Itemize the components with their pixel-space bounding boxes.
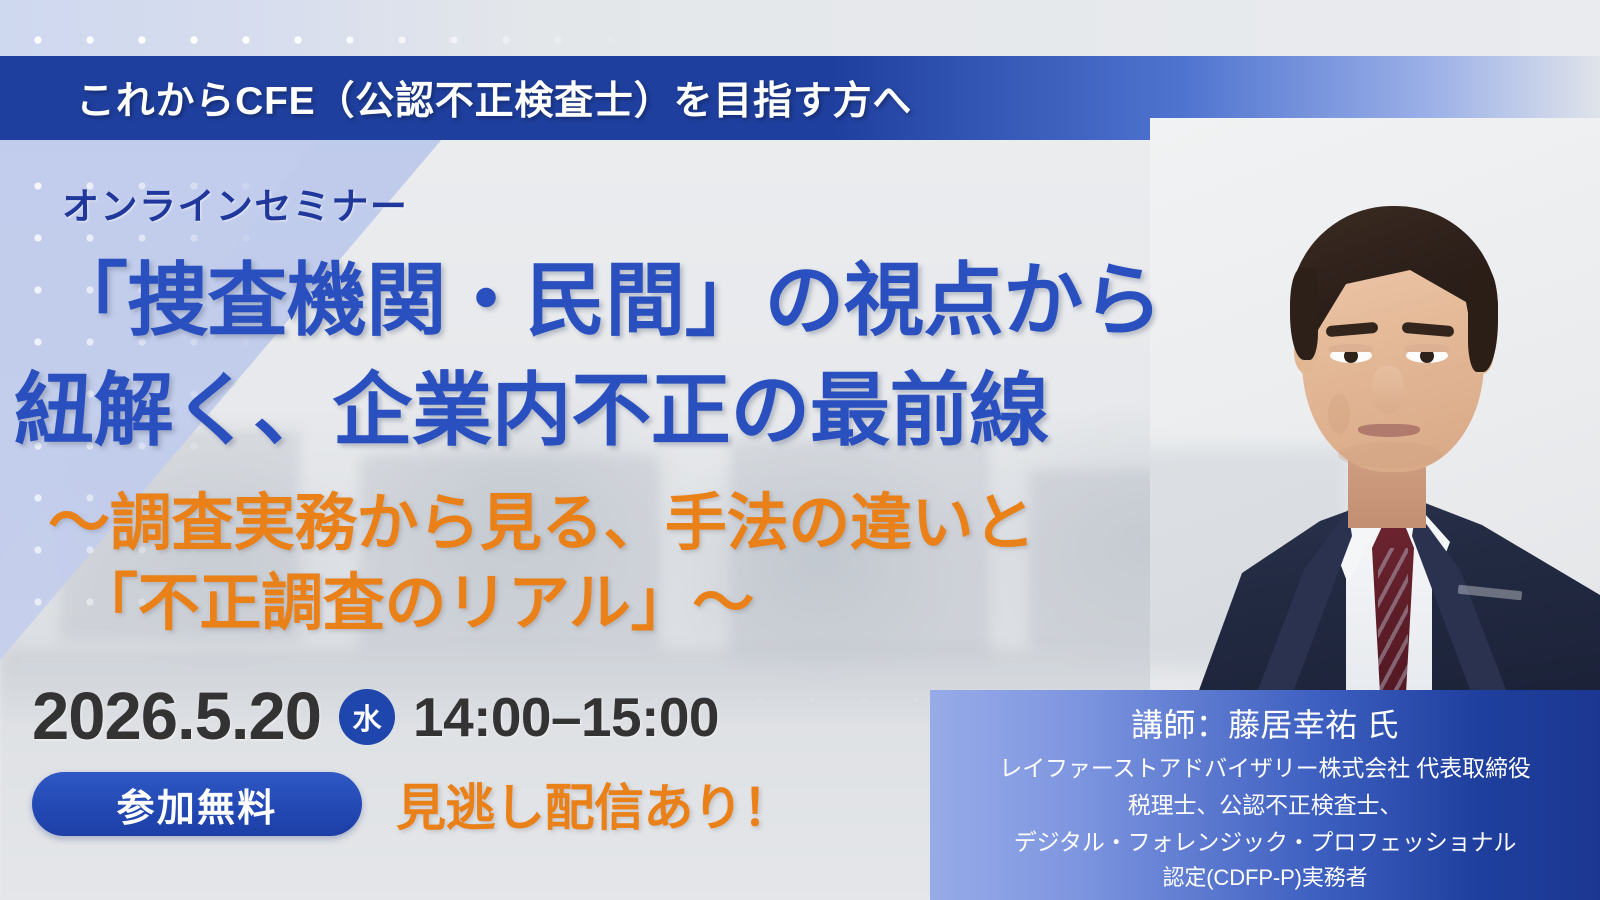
speaker-credentials-line3: 認定(CDFP-P)実務者 xyxy=(930,860,1600,892)
free-admission-badge[interactable]: 参加無料 xyxy=(32,772,362,836)
mouth xyxy=(1358,424,1420,437)
hair-side-right xyxy=(1468,268,1498,372)
speaker-affiliation: レイファーストアドバイザリー株式会社 代表取締役 xyxy=(930,749,1600,783)
seminar-title-line1: 「捜査機関・民間」の視点から xyxy=(48,236,1162,352)
replay-available-label: 見逃し配信あり！ xyxy=(396,768,792,840)
header-tagline: これからCFE（公認不正検査士）を目指す方へ xyxy=(76,70,912,126)
chin-shadow xyxy=(1338,442,1442,468)
seminar-banner: これからCFE（公認不正検査士）を目指す方へ オンラインセミナー 「捜査機関・民… xyxy=(0,0,1600,900)
eyelid-right xyxy=(1405,344,1449,352)
speaker-info-panel: 講師：藤居幸祐 氏 レイファーストアドバイザリー株式会社 代表取締役 税理士、公… xyxy=(930,690,1600,900)
nose xyxy=(1372,366,1404,414)
seminar-subtitle-line2: 「不正調査のリアル」〜 xyxy=(76,552,754,642)
day-of-week-badge: 水 xyxy=(339,689,395,745)
cheek-shadow xyxy=(1328,394,1350,434)
event-time: 14:00–15:00 xyxy=(413,685,719,749)
dot-pattern-icon xyxy=(0,0,1600,56)
hair-side-left xyxy=(1290,268,1318,360)
speaker-photo xyxy=(1150,118,1600,690)
seminar-kicker: オンラインセミナー xyxy=(62,176,408,230)
event-date: 2026.5.20 xyxy=(32,678,321,755)
speaker-credentials-line1: 税理士、公認不正検査士、 xyxy=(930,786,1600,820)
seminar-title-line2: 紐解く、企業内不正の最前線 xyxy=(14,346,1049,462)
cta-row: 参加無料 見逃し配信あり！ xyxy=(32,768,792,840)
schedule-row: 2026.5.20 水 14:00–15:00 xyxy=(32,678,719,755)
eyelid-left xyxy=(1329,344,1373,352)
speaker-name: 講師：藤居幸祐 氏 xyxy=(930,700,1600,746)
speaker-credentials-line2: デジタル・フォレンジック・プロフェッショナル xyxy=(930,823,1600,857)
seminar-subtitle-line1: 〜調査実務から見る、手法の違いと xyxy=(48,472,1035,562)
